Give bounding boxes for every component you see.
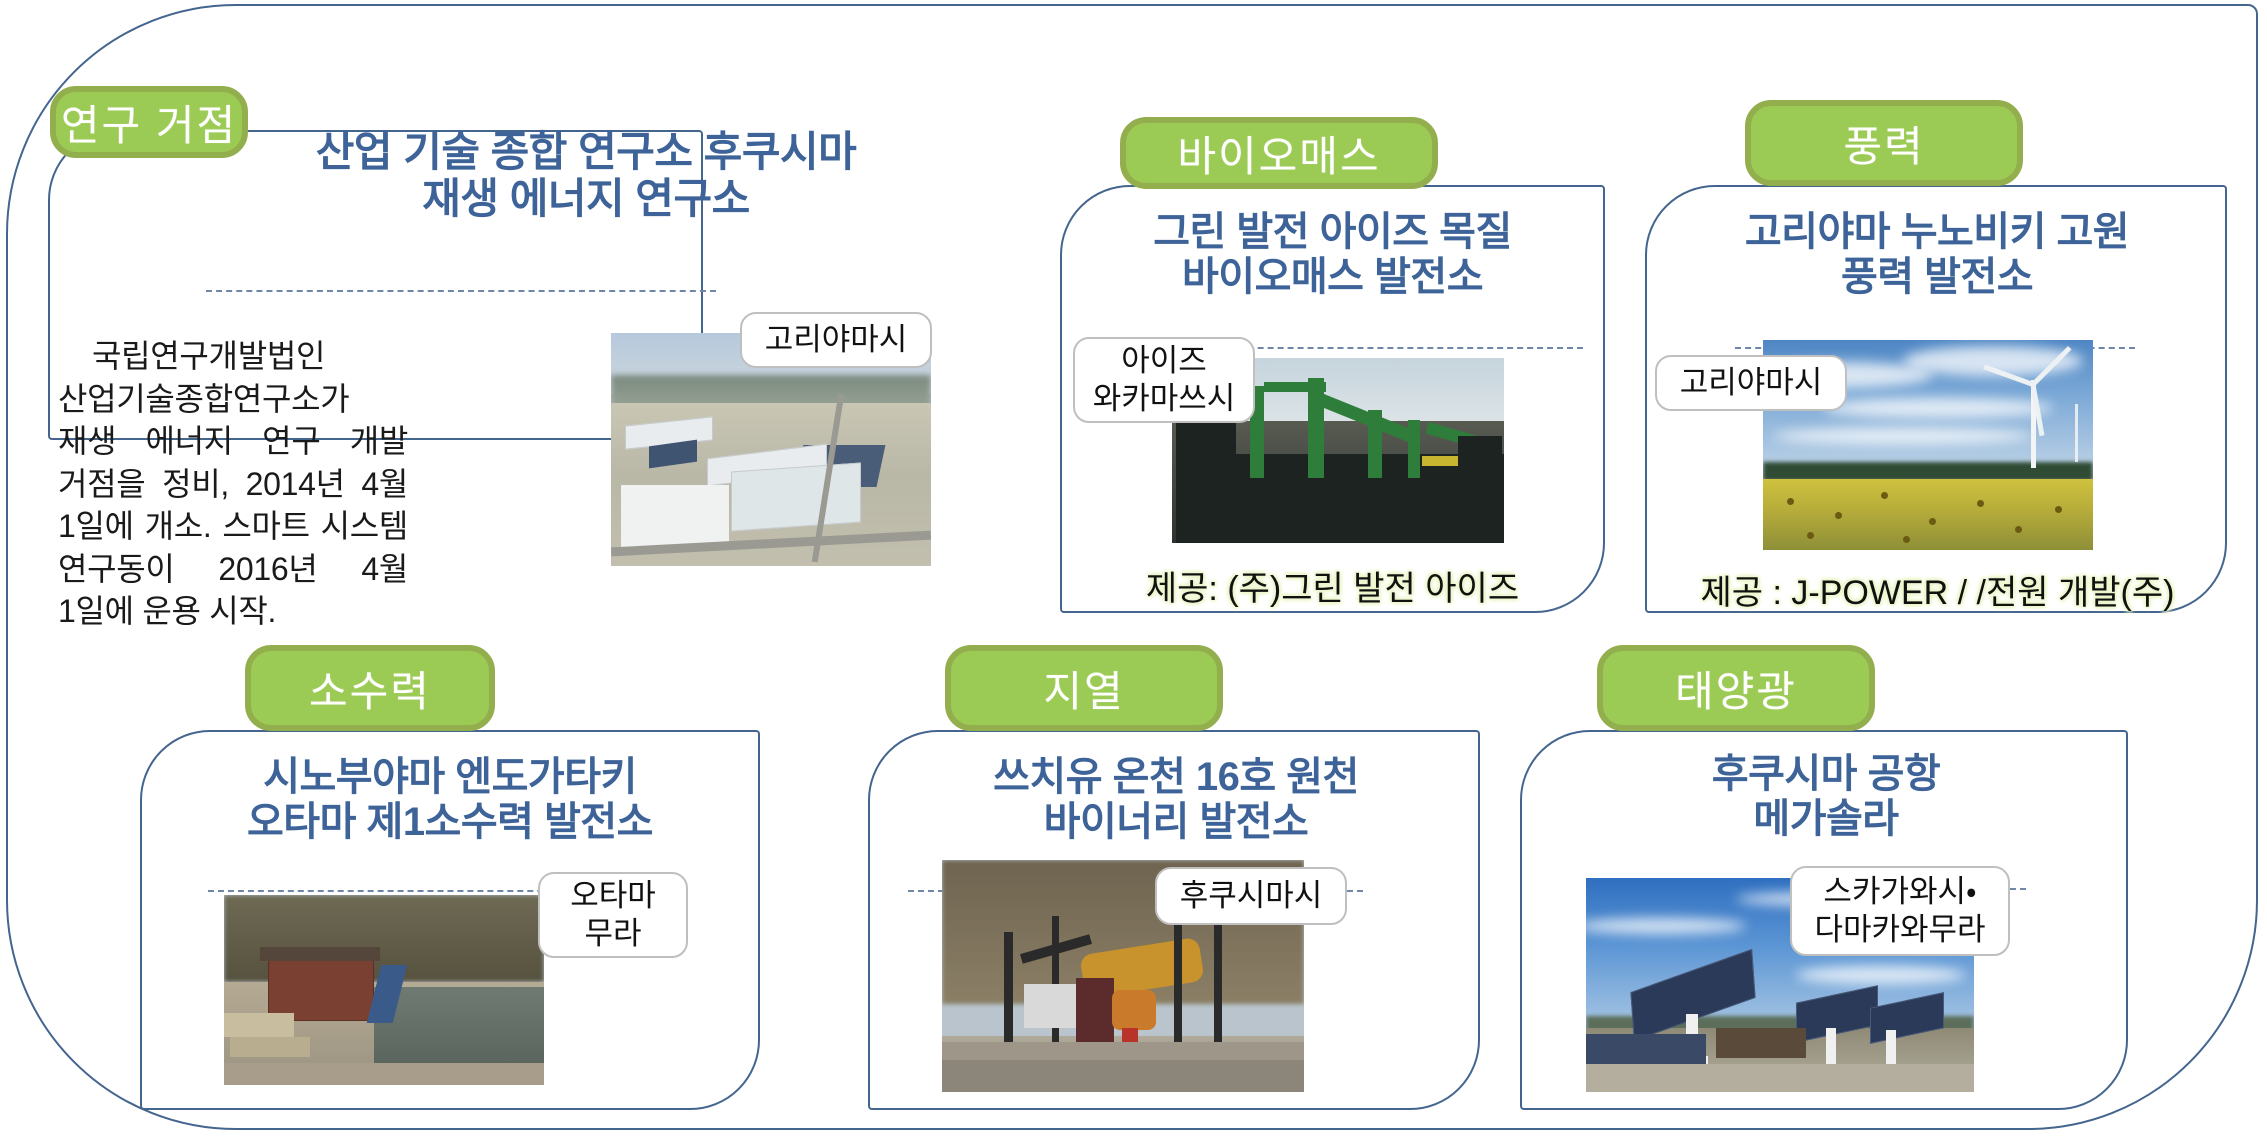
tab-label: 풍력 (1843, 113, 1924, 174)
card-title-wind: 고리야마 누노비키 고원 풍력 발전소 (1652, 210, 2222, 300)
card-title-small-hydro: 시노부야마 엔도가타키 오타마 제1소수력 발전소 (148, 755, 752, 845)
tab-label: 지열 (1043, 658, 1124, 719)
location-badge-small-hydro: 오타마 무라 (538, 872, 688, 958)
photo-credit-wind: 제공 : J-POWER / /전원 개발(주) (1650, 565, 2225, 614)
photo-credit-biomass: 제공: (주)그린 발전 아이즈 (1075, 561, 1590, 610)
tab-label: 태양광 (1675, 658, 1797, 719)
tab-biomass[interactable]: 바이오매스 (1120, 117, 1438, 189)
location-badge-biomass: 아이즈 와카마쓰시 (1073, 337, 1255, 423)
tab-solar[interactable]: 태양광 (1597, 645, 1875, 731)
tab-geothermal[interactable]: 지열 (945, 645, 1223, 731)
tab-label: 소수력 (309, 658, 431, 719)
title-separator (206, 290, 716, 292)
location-badge-wind: 고리야마시 (1655, 355, 1847, 411)
location-badge-geothermal: 후쿠시마시 (1155, 867, 1347, 925)
card-title-biomass: 그린 발전 아이즈 목질 바이오매스 발전소 (1070, 210, 1595, 300)
card-title-solar: 후쿠시마 공항 메가솔라 (1528, 752, 2124, 842)
tab-wind[interactable]: 풍력 (1745, 100, 2023, 186)
card-body-research-hub: 국립연구개발법인 산업기술종합연구소가 재생 에너지 연구 개발 거점을 정비,… (58, 335, 408, 633)
tab-label: 바이오매스 (1177, 123, 1380, 184)
small-hydro-photo (224, 895, 544, 1085)
card-title-research-hub: 산업 기술 종합 연구소 후쿠시마 재생 에너지 연구소 (236, 128, 936, 222)
location-badge-research-hub: 고리야마시 (740, 312, 932, 368)
tab-label: 연구 거점 (61, 92, 237, 153)
tab-research-hub[interactable]: 연구 거점 (50, 86, 248, 158)
location-badge-solar: 스카가와시・ 다마카와무라 (1790, 866, 2010, 956)
tab-small-hydro[interactable]: 소수력 (245, 645, 495, 731)
card-title-geothermal: 쓰치유 온천 16호 원천 바이너리 발전소 (876, 755, 1476, 845)
